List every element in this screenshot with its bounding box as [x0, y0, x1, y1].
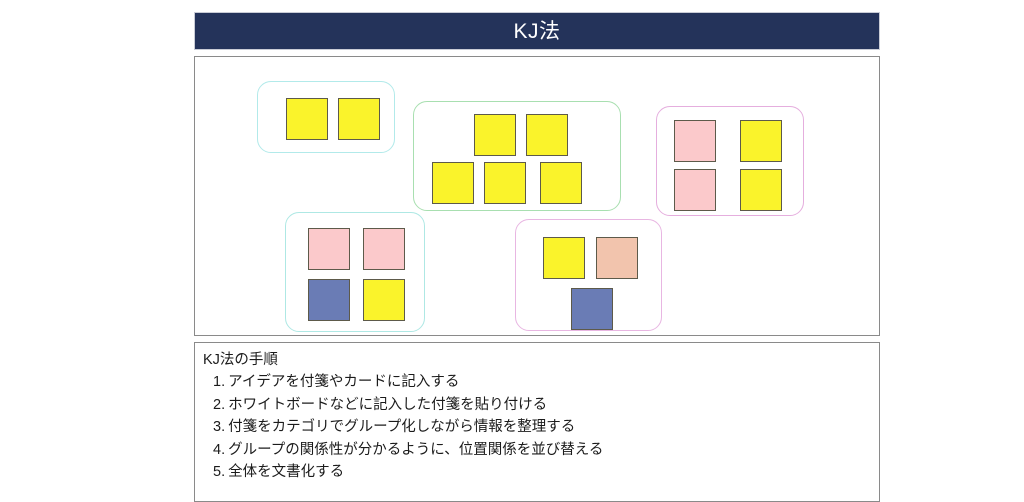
- list-item-label: ホワイトボードなどに記入した付箋を貼り付ける: [228, 394, 547, 416]
- group-top-center[interactable]: [413, 101, 621, 211]
- steps-panel: KJ法の手順 1.アイデアを付箋やカードに記入する2.ホワイトボードなどに記入し…: [194, 342, 880, 502]
- list-item: 3.付箋をカテゴリでグループ化しながら情報を整理する: [203, 416, 879, 438]
- sticky-note[interactable]: [308, 228, 350, 270]
- list-item-number: 1.: [213, 371, 225, 393]
- list-item: 4.グループの関係性が分かるように、位置関係を並び替える: [203, 439, 879, 461]
- list-item-number: 2.: [213, 394, 225, 416]
- list-item-label: 付箋をカテゴリでグループ化しながら情報を整理する: [228, 416, 575, 438]
- list-item-label: アイデアを付箋やカードに記入する: [228, 371, 459, 393]
- sticky-note[interactable]: [740, 120, 782, 162]
- steps-heading: KJ法の手順: [203, 349, 879, 371]
- sticky-note[interactable]: [540, 162, 582, 204]
- list-item: 5.全体を文書化する: [203, 461, 879, 483]
- sticky-note[interactable]: [526, 114, 568, 156]
- sticky-note[interactable]: [474, 114, 516, 156]
- whiteboard-panel: [194, 56, 880, 336]
- sticky-note[interactable]: [363, 279, 405, 321]
- group-right[interactable]: [656, 106, 804, 216]
- sticky-note[interactable]: [571, 288, 613, 330]
- sticky-note[interactable]: [363, 228, 405, 270]
- list-item-number: 5.: [213, 461, 225, 483]
- page-title: KJ法: [513, 21, 560, 42]
- sticky-note[interactable]: [338, 98, 380, 140]
- sticky-note[interactable]: [484, 162, 526, 204]
- slide-title-bar: KJ法: [194, 12, 880, 50]
- sticky-note[interactable]: [286, 98, 328, 140]
- sticky-note[interactable]: [674, 169, 716, 211]
- list-item-number: 3.: [213, 416, 225, 438]
- group-bottom-left[interactable]: [285, 212, 425, 332]
- sticky-note[interactable]: [432, 162, 474, 204]
- group-bottom-center[interactable]: [515, 219, 662, 331]
- sticky-note[interactable]: [674, 120, 716, 162]
- list-item: 2.ホワイトボードなどに記入した付箋を貼り付ける: [203, 394, 879, 416]
- list-item-label: グループの関係性が分かるように、位置関係を並び替える: [228, 439, 603, 461]
- sticky-note[interactable]: [543, 237, 585, 279]
- list-item-label: 全体を文書化する: [228, 461, 344, 483]
- sticky-note[interactable]: [596, 237, 638, 279]
- list-item-number: 4.: [213, 439, 225, 461]
- list-item: 1.アイデアを付箋やカードに記入する: [203, 371, 879, 393]
- sticky-note[interactable]: [308, 279, 350, 321]
- group-top-left[interactable]: [257, 81, 395, 153]
- steps-list: 1.アイデアを付箋やカードに記入する2.ホワイトボードなどに記入した付箋を貼り付…: [203, 371, 879, 483]
- sticky-note[interactable]: [740, 169, 782, 211]
